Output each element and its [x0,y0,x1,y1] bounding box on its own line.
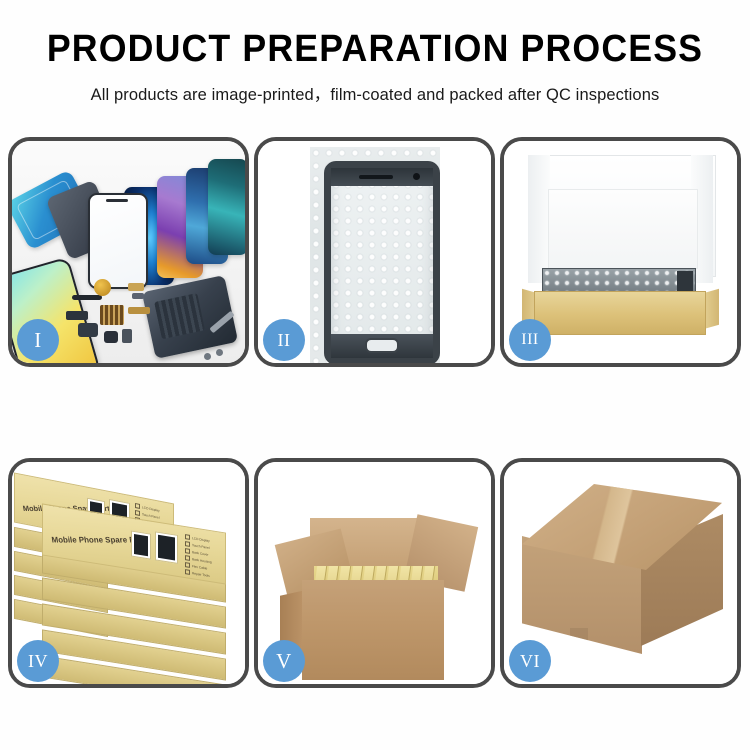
step-badge-2: II [263,319,305,361]
spare-part-camera-module [78,323,98,337]
screen-top-bezel [331,168,433,186]
step-badge-5: V [263,640,305,682]
step-badge-4: IV [17,640,59,682]
process-step-panel-3[interactable]: III [500,137,741,367]
teal-curve-phone [208,159,245,255]
inner-box-tray-front [534,291,706,335]
page-subtitle: All products are image-printed，film-coat… [0,81,750,105]
carton-handle-tab-upper [570,628,588,650]
page-title: PRODUCT PREPARATION PROCESS [23,30,728,68]
spare-part-flex-gold [128,283,144,291]
spare-part-button [104,331,118,343]
process-step-panel-2[interactable]: II [254,137,495,367]
step-badge-3: III [509,319,551,361]
step-badge-1: I [17,319,59,361]
inner-box-lid-left [528,155,550,283]
spare-part-flex-grey [132,293,144,299]
process-steps-grid: I II [8,137,742,688]
step-badge-6: VI [509,640,551,682]
foam-padding [548,189,698,269]
product-preparation-process-page: PRODUCT PREPARATION PROCESS All products… [0,0,750,750]
wrapped-screen-glass [324,161,440,363]
process-step-panel-4[interactable]: Mobile Phone Spare Parts LCD Display Tou… [8,458,249,688]
glass-screen-panel [88,193,148,289]
spare-part-screw-1 [204,353,211,360]
carton-front-face [302,610,444,680]
spare-part-chip-array [100,305,124,325]
spare-part-gold-strip [128,307,150,314]
header: PRODUCT PREPARATION PROCESS All products… [0,30,750,105]
spare-part-vibrator [122,329,132,343]
spare-part-connector [72,295,102,300]
spare-part-speaker [94,279,111,296]
box-swatch-front-1 [131,531,151,560]
process-step-panel-6[interactable]: VI [500,458,741,688]
process-step-panel-1[interactable]: I [8,137,249,367]
spare-part-bracket [66,311,88,320]
process-step-panel-5[interactable]: V [254,458,495,688]
earpiece-slot [359,175,393,179]
spare-part-screw-2 [216,349,223,356]
box-checklist-front: LCD Display Touch Panel Back Cover Back … [185,534,212,578]
box-swatch-front-2 [155,531,178,564]
bubble-wrap-sheet [310,147,440,363]
home-button-cutout [365,338,399,353]
front-camera-hole [413,173,420,180]
